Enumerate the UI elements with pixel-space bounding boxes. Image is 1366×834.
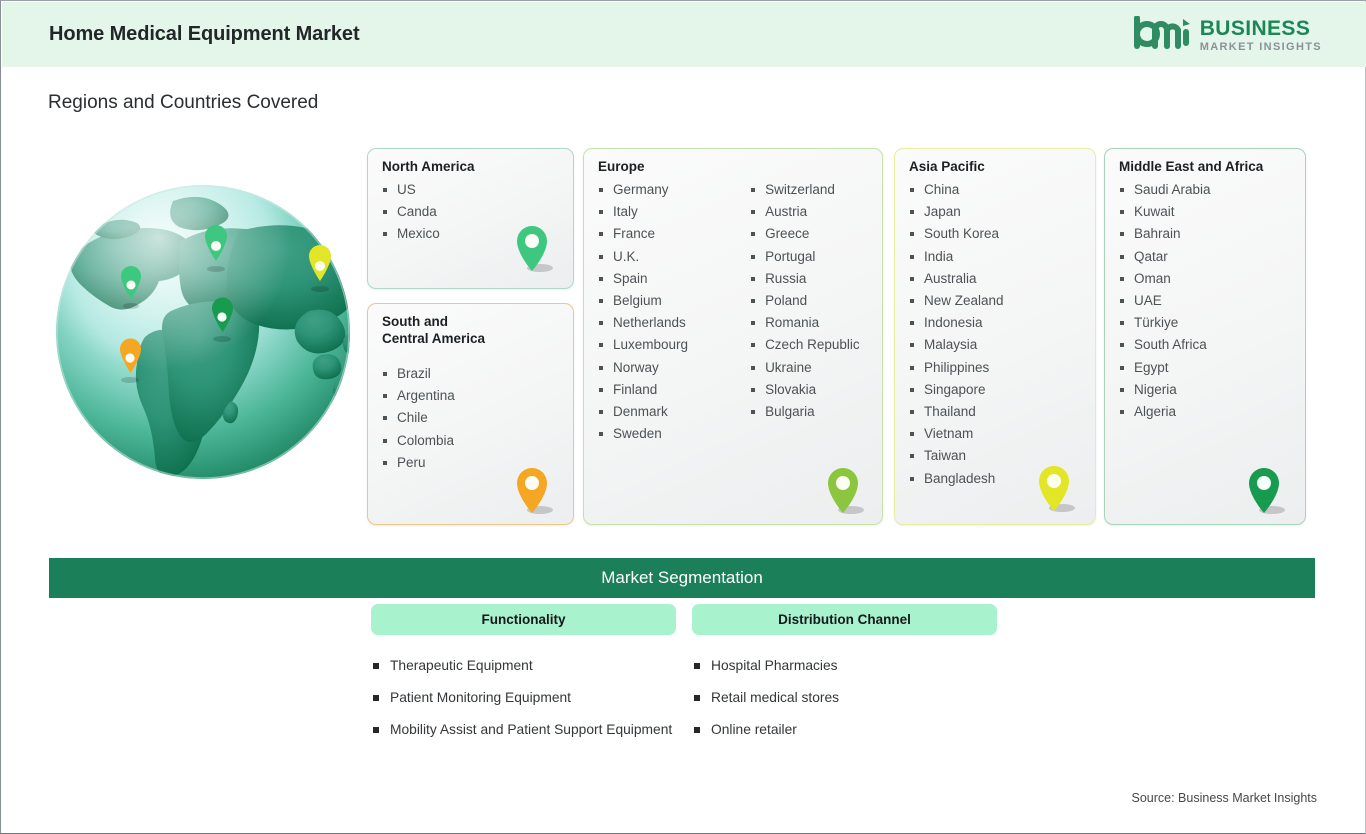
country-columns-middle-east-and-africa: Saudi Arabia Kuwait Bahrain Qatar Oman U… [1119,179,1211,423]
pin-asia-pacific-icon [1033,463,1077,522]
segmentation-list-functionality: Therapeutic Equipment Patient Monitoring… [373,654,673,750]
country-item: Canda [382,201,440,223]
country-item: Romania [750,312,860,334]
region-card-north-america[interactable]: North America US Canda Mexico [367,148,574,289]
region-title-europe: Europe [598,158,645,175]
logo-business-text: BUSINESS [1200,18,1322,39]
segmentation-item: Mobility Assist and Patient Support Equi… [373,718,673,742]
country-item: Indonesia [909,312,1004,334]
country-item: South Africa [1119,334,1211,356]
country-list-column: Saudi Arabia Kuwait Bahrain Qatar Oman U… [1119,179,1211,423]
country-item: Mexico [382,223,440,245]
pin-south-and-central-america-icon [511,465,555,524]
segmentation-list-distribution-channel: Hospital Pharmacies Retail medical store… [694,654,984,750]
country-columns-north-america: US Canda Mexico [382,179,440,246]
country-item: Türkiye [1119,312,1211,334]
region-title-north-america: North America [382,158,475,175]
country-item: Switzerland [750,179,860,201]
country-item: Finland [598,379,688,401]
country-item: U.K. [598,246,688,268]
country-list-column: Brazil Argentina Chile Colombia Peru [382,363,455,474]
country-item: Denmark [598,401,688,423]
country-item: Bulgaria [750,401,860,423]
segmentation-group-label: Functionality [482,612,566,627]
region-title-middle-east-and-africa: Middle East and Africa [1119,158,1263,175]
region-card-middle-east-and-africa[interactable]: Middle East and Africa Saudi Arabia Kuwa… [1104,148,1306,525]
country-item: Germany [598,179,688,201]
region-card-asia-pacific[interactable]: Asia Pacific China Japan South Korea Ind… [894,148,1096,525]
region-title-south-and-central-america: South and Central America [382,313,485,347]
country-item: New Zealand [909,290,1004,312]
country-item: Oman [1119,268,1211,290]
bmi-logo-mark-icon [1133,16,1191,55]
segmentation-group-label: Distribution Channel [778,612,911,627]
segmentation-item: Online retailer [694,718,984,742]
country-item: Greece [750,223,860,245]
source-credit: Source: Business Market Insights [1132,791,1318,805]
country-item: France [598,223,688,245]
page-header: Home Medical Equipment Market BUSINESS M… [2,2,1366,67]
country-item: Philippines [909,357,1004,379]
country-list-column: US Canda Mexico [382,179,440,246]
country-item: Malaysia [909,334,1004,356]
infographic-page: Home Medical Equipment Market BUSINESS M… [0,0,1366,834]
country-item: Algeria [1119,401,1211,423]
country-item: Peru [382,452,455,474]
country-item: Taiwan [909,445,1004,467]
country-item: Ukraine [750,357,860,379]
country-list-column: Germany Italy France U.K. Spain Belgium … [598,179,688,445]
pin-europe-icon [822,465,866,524]
country-item: Poland [750,290,860,312]
country-item: Czech Republic [750,334,860,356]
region-card-south-and-central-america[interactable]: South and Central America Brazil Argenti… [367,303,574,525]
segmentation-group-header-functionality[interactable]: Functionality [371,604,676,635]
country-list-column: China Japan South Korea India Australia … [909,179,1004,490]
country-item: Sweden [598,423,688,445]
country-item: Vietnam [909,423,1004,445]
section-heading: Regions and Countries Covered [48,92,318,114]
country-item: Norway [598,357,688,379]
country-item: India [909,246,1004,268]
market-segmentation-bar: Market Segmentation [49,558,1315,598]
country-item: Belgium [598,290,688,312]
country-item: Japan [909,201,1004,223]
segmentation-item: Retail medical stores [694,686,984,710]
pin-middle-east-and-africa-icon [1243,465,1287,524]
country-item: Italy [598,201,688,223]
country-item: Qatar [1119,246,1211,268]
country-item: Kuwait [1119,201,1211,223]
segmentation-item: Therapeutic Equipment [373,654,673,678]
country-item: Nigeria [1119,379,1211,401]
country-item: US [382,179,440,201]
country-item: Slovakia [750,379,860,401]
segmentation-item: Patient Monitoring Equipment [373,686,673,710]
country-columns-south-and-central-america: Brazil Argentina Chile Colombia Peru [382,363,455,474]
country-item: Portugal [750,246,860,268]
country-item: Colombia [382,430,455,452]
page-title: Home Medical Equipment Market [49,23,360,46]
world-globe-illustration [53,179,369,495]
country-columns-europe: Germany Italy France U.K. Spain Belgium … [598,179,860,445]
country-item: Spain [598,268,688,290]
country-item: South Korea [909,223,1004,245]
segmentation-item: Hospital Pharmacies [694,654,984,678]
country-item: Russia [750,268,860,290]
market-segmentation-title: Market Segmentation [601,568,763,588]
country-item: Bahrain [1119,223,1211,245]
pin-north-america-icon [511,223,555,282]
country-item: UAE [1119,290,1211,312]
country-item: Bangladesh [909,468,1004,490]
country-item: Saudi Arabia [1119,179,1211,201]
country-item: Luxembourg [598,334,688,356]
country-item: Thailand [909,401,1004,423]
region-title-asia-pacific: Asia Pacific [909,158,985,175]
country-item: Argentina [382,385,455,407]
logo-wordmark: BUSINESS MARKET INSIGHTS [1200,18,1322,53]
country-item: Brazil [382,363,455,385]
country-item: Netherlands [598,312,688,334]
segmentation-group-header-distribution-channel[interactable]: Distribution Channel [692,604,997,635]
country-list-column: Switzerland Austria Greece Portugal Russ… [750,179,860,445]
country-columns-asia-pacific: China Japan South Korea India Australia … [909,179,1004,490]
region-title-line1: South and [382,314,448,329]
country-item: Australia [909,268,1004,290]
country-item: Singapore [909,379,1004,401]
country-item: China [909,179,1004,201]
country-item: Chile [382,407,455,429]
brand-logo: BUSINESS MARKET INSIGHTS [1133,13,1322,57]
region-card-europe[interactable]: Europe Germany Italy France U.K. Spain B… [583,148,883,525]
country-item: Egypt [1119,357,1211,379]
logo-subtitle-text: MARKET INSIGHTS [1200,42,1322,53]
country-item: Austria [750,201,860,223]
region-title-line2: Central America [382,331,485,346]
